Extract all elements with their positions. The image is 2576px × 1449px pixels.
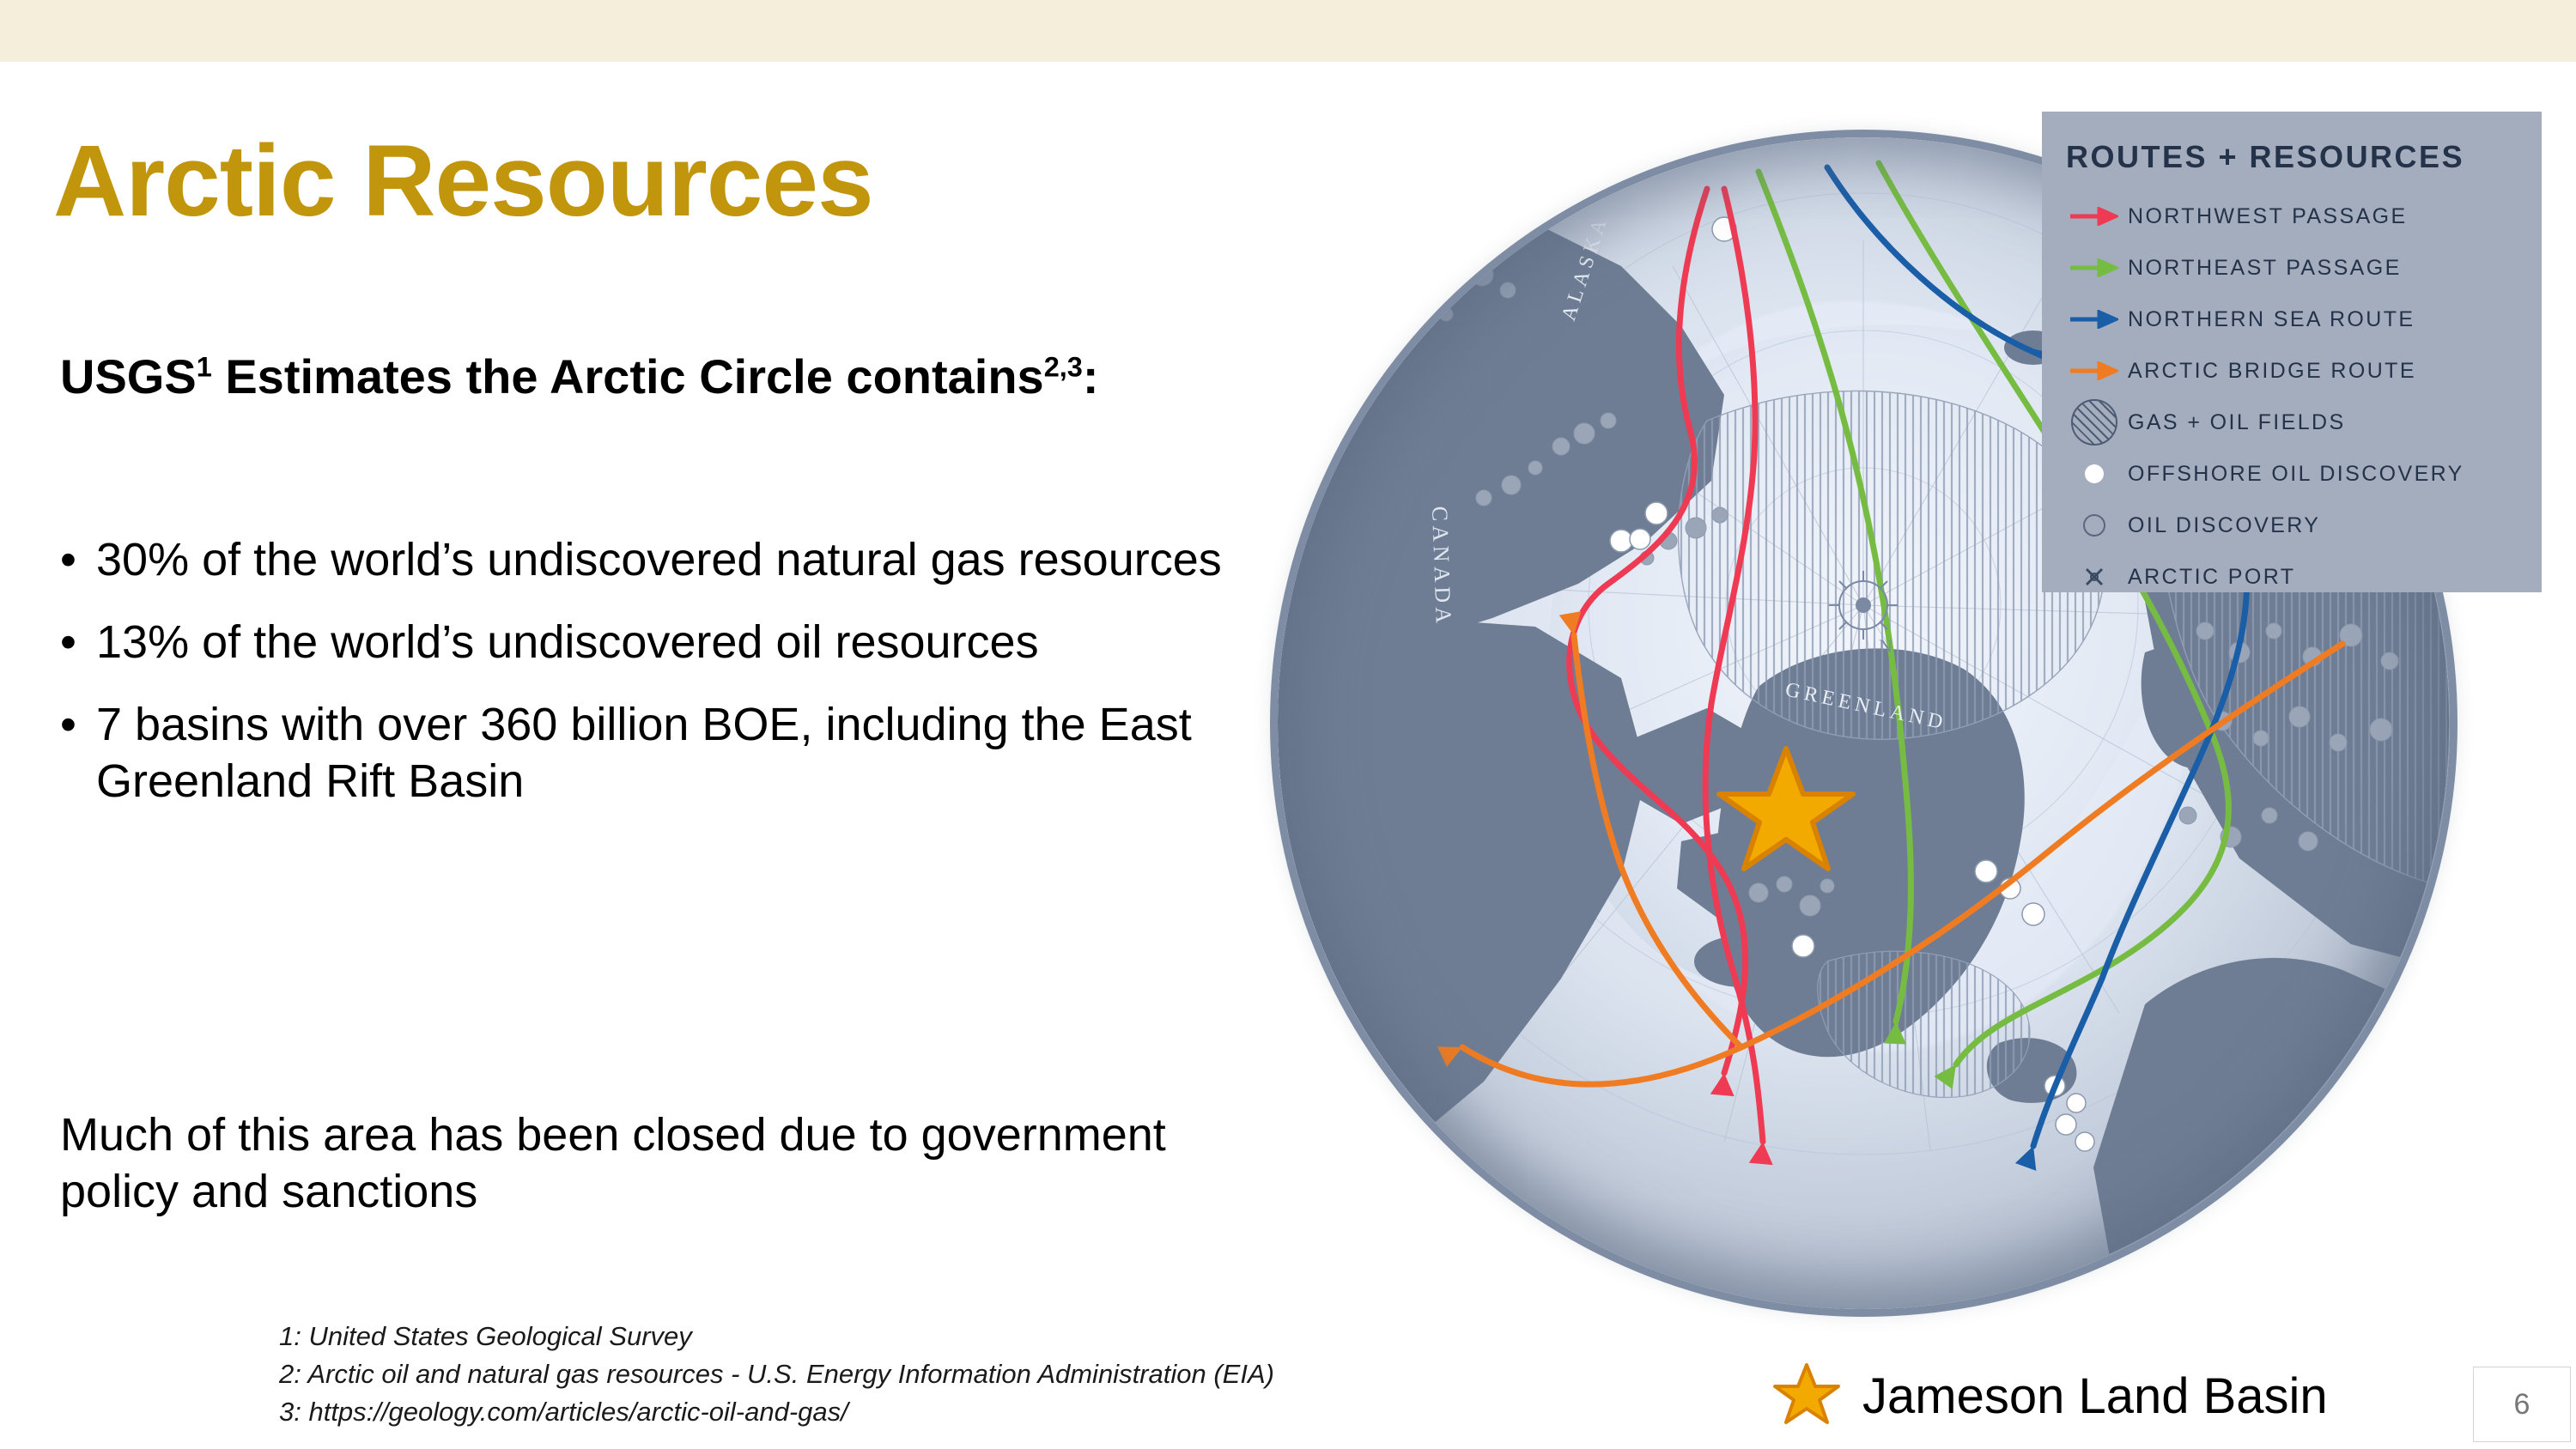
page-number-box: 6: [2473, 1367, 2571, 1442]
lead-prefix: USGS: [60, 349, 197, 403]
star-legend-caption: Jameson Land Basin: [1773, 1361, 2328, 1431]
footnote-1: 1: United States Geological Survey: [279, 1318, 1274, 1355]
footnotes: 1: United States Geological Survey 2: Ar…: [279, 1318, 1274, 1431]
arrow-icon-northern-sea: [2061, 310, 2128, 329]
list-item: • 30% of the world’s undiscovered natura…: [60, 532, 1279, 589]
bullet-marker-icon: •: [60, 532, 96, 588]
north-pole-compass-icon: [1829, 571, 1898, 640]
list-item: • 7 basins with over 360 billion BOE, in…: [60, 697, 1279, 810]
filled-dot-icon: [2061, 464, 2128, 483]
open-dot-icon: [2061, 514, 2128, 537]
list-item: • 13% of the world’s undiscovered oil re…: [60, 615, 1279, 671]
bullet-list: • 30% of the world’s undiscovered natura…: [60, 532, 1279, 836]
arrow-icon-northeast: [2061, 258, 2128, 277]
footnote-2: 2: Arctic oil and natural gas resources …: [279, 1355, 1274, 1393]
legend-item-arctic-port[interactable]: ARCTIC PORT: [2042, 551, 2542, 603]
legend-label: GAS + OIL FIELDS: [2128, 410, 2346, 435]
top-accent-band: [0, 0, 2576, 62]
legend-item-offshore-oil-discovery[interactable]: OFFSHORE OIL DISCOVERY: [2042, 448, 2542, 500]
legend-title: ROUTES + RESOURCES: [2066, 139, 2542, 175]
legend-item-northeast-passage[interactable]: NORTHEAST PASSAGE: [2042, 242, 2542, 294]
star-caption-label: Jameson Land Basin: [1862, 1367, 2328, 1425]
legend-label: ARCTIC PORT: [2128, 565, 2295, 590]
arrow-icon-arctic-bridge: [2061, 361, 2128, 380]
arrow-icon-northwest: [2061, 207, 2128, 226]
star-icon: [1773, 1361, 1840, 1431]
legend-item-arctic-bridge-route[interactable]: ARCTIC BRIDGE ROUTE: [2042, 345, 2542, 397]
lead-suffix: :: [1083, 349, 1099, 403]
legend-label: OFFSHORE OIL DISCOVERY: [2128, 462, 2464, 487]
map-label-north: N: [1879, 635, 1893, 657]
map-legend-panel: ROUTES + RESOURCES NORTHWEST PASSAGE NOR…: [2042, 112, 2542, 592]
lead-statement: USGS1 Estimates the Arctic Circle contai…: [60, 348, 1168, 406]
legend-label: OIL DISCOVERY: [2128, 513, 2320, 538]
legend-item-northern-sea-route[interactable]: NORTHERN SEA ROUTE: [2042, 294, 2542, 345]
bullet-marker-icon: •: [60, 615, 96, 670]
route-arrowhead-nw-2: [1749, 1141, 1775, 1165]
legend-label: NORTHWEST PASSAGE: [2128, 204, 2408, 229]
route-arrowhead-nsr: [2015, 1143, 2044, 1171]
bullet-text: 30% of the world’s undiscovered natural …: [96, 532, 1279, 589]
footnote-3: 3: https://geology.com/articles/arctic-o…: [279, 1393, 1274, 1431]
lead-middle: Estimates the Arctic Circle contains: [212, 349, 1044, 403]
closing-statement: Much of this area has been closed due to…: [60, 1107, 1262, 1221]
map-label-canada: CANADA: [1427, 506, 1456, 627]
lead-superscript-2: 2,3: [1044, 351, 1083, 382]
bullet-text: 7 basins with over 360 billion BOE, incl…: [96, 697, 1279, 810]
lead-superscript-1: 1: [197, 351, 212, 382]
legend-item-northwest-passage[interactable]: NORTHWEST PASSAGE: [2042, 191, 2542, 242]
legend-label: ARCTIC BRIDGE ROUTE: [2128, 359, 2416, 384]
landmass-scandinavia: [2093, 958, 2450, 1309]
route-arrowhead-nw-1: [1710, 1072, 1736, 1096]
bullet-marker-icon: •: [60, 697, 96, 753]
page-title: Arctic Resources: [53, 129, 873, 235]
legend-label: NORTHERN SEA ROUTE: [2128, 307, 2415, 332]
landmass-canada: [1278, 618, 1647, 1210]
hatched-circle-icon: [2061, 399, 2128, 446]
page-number: 6: [2514, 1388, 2530, 1422]
legend-item-oil-discovery[interactable]: OIL DISCOVERY: [2042, 500, 2542, 551]
bullet-text: 13% of the world’s undiscovered oil reso…: [96, 615, 1279, 671]
legend-label: NORTHEAST PASSAGE: [2128, 256, 2402, 281]
port-icon: [2061, 566, 2128, 588]
legend-item-gas-oil-fields[interactable]: GAS + OIL FIELDS: [2042, 397, 2542, 448]
